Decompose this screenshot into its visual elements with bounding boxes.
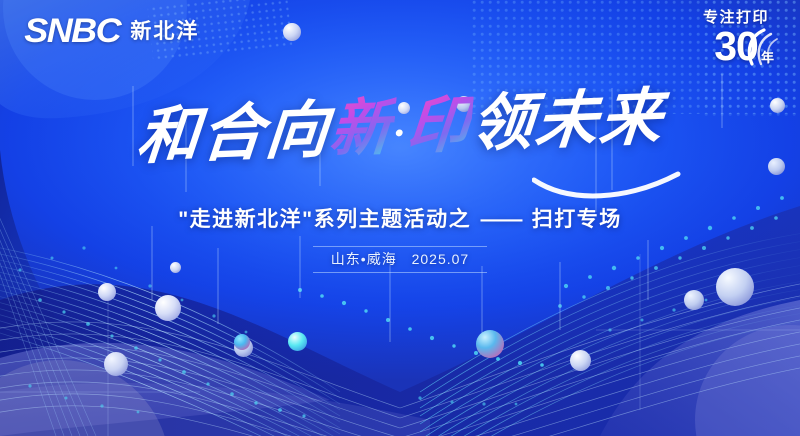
subtitle-tail: 扫打专场 — [532, 208, 622, 231]
anniversary-badge: 专注打印 30 年 — [688, 10, 784, 70]
subtitle-main: "走进新北洋"系列主题活动之 — [178, 208, 471, 231]
title-char-8: 来 — [596, 84, 666, 154]
title-underline-swoosh — [532, 170, 682, 204]
title-char-1: 合 — [198, 99, 268, 169]
title-char-2: 向 — [262, 97, 332, 167]
decor-sphere — [570, 350, 591, 371]
event-location: 山东•威海 — [331, 251, 397, 267]
anniversary-number-row: 30 年 — [688, 26, 784, 70]
title-char-6: 领 — [468, 89, 538, 159]
page-title: 和合向新·印领未来 — [134, 86, 666, 171]
decor-sphere-cyan — [288, 332, 307, 351]
decor-sphere — [283, 23, 301, 41]
title-char-5: 印 — [403, 91, 473, 161]
title-char-7: 未 — [532, 86, 602, 156]
event-subtitle: "走进新北洋"系列主题活动之 —— 扫打专场 — [0, 203, 800, 233]
decor-sphere — [684, 290, 704, 310]
event-banner: SNBC 新北洋 专注打印 30 年 和合向新·印领未来 "走进新北洋"系列主题… — [0, 0, 800, 436]
title-char-0: 和 — [134, 102, 204, 172]
event-date: 2025.07 — [412, 251, 470, 267]
title-char-3: 新 — [327, 94, 397, 164]
event-datebar: 山东•威海 2025.07 — [0, 246, 800, 273]
snbc-chinese-name: 新北洋 — [130, 21, 199, 42]
snbc-wordmark: SNBC — [24, 14, 120, 48]
decor-sphere — [716, 268, 754, 306]
subtitle-dash: —— — [478, 208, 524, 231]
decor-sphere-magenta — [234, 334, 250, 350]
decor-sphere — [155, 295, 181, 321]
datebar-inner: 山东•威海 2025.07 — [313, 246, 487, 273]
anniversary-unit: 年 — [761, 47, 774, 66]
decor-sphere-gradient — [476, 330, 504, 358]
hero-title-wrap: 和合向新·印领未来 — [0, 96, 800, 161]
decor-sphere — [98, 283, 116, 301]
decor-sphere — [104, 352, 128, 376]
snbc-logo[interactable]: SNBC 新北洋 — [27, 14, 199, 48]
